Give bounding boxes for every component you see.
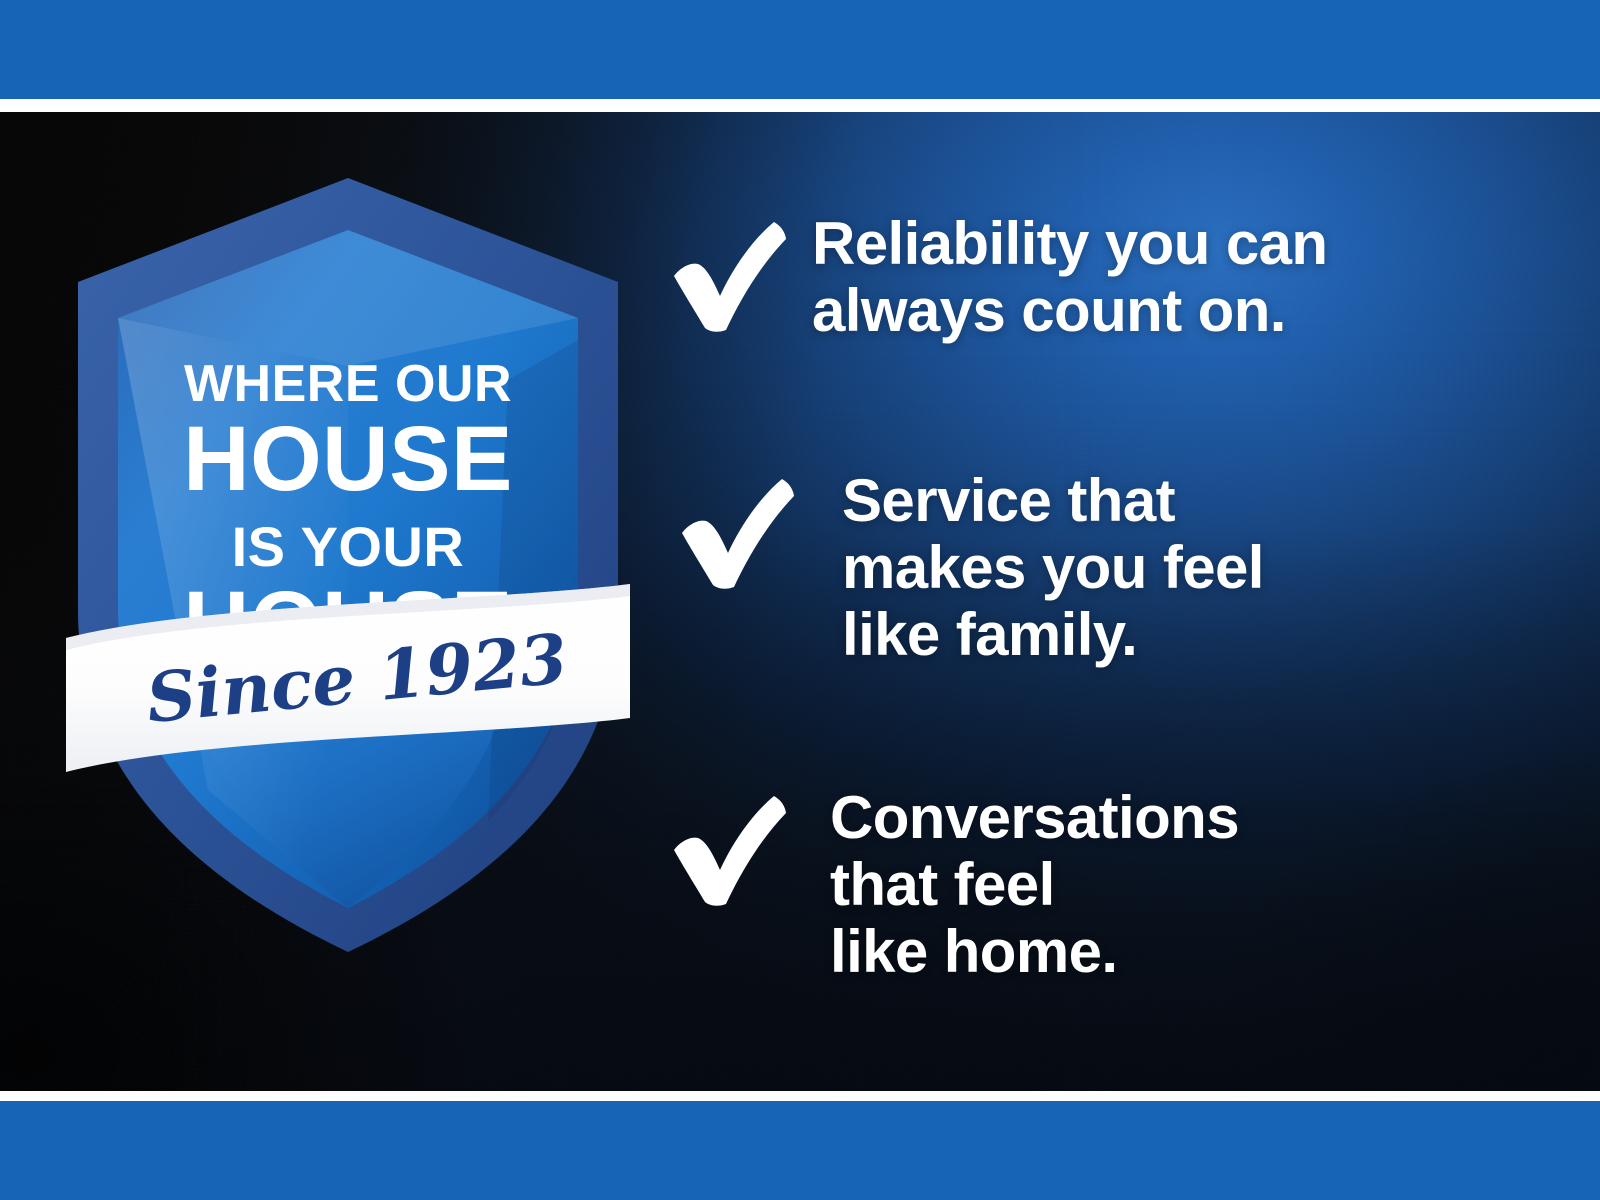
emblem-line-1: WHERE OUR — [184, 355, 512, 413]
list-item-text: Service that makes you feel like family. — [842, 467, 1264, 669]
list-item: Reliability you can always count on. — [668, 210, 1327, 344]
list-item: Service that makes you feel like family. — [676, 467, 1264, 669]
benefits-list: Reliability you can always count on. Ser… — [660, 112, 1540, 1091]
emblem-line-3: IS YOUR — [232, 515, 465, 578]
list-item-text: Conversations that feel like home. — [830, 784, 1239, 986]
checkmark-icon — [676, 475, 798, 593]
checkmark-icon — [668, 792, 790, 910]
shield-emblem: WHERE OUR HOUSE IS YOUR HOUSE Since 1923 — [58, 170, 638, 960]
bottom-brand-bar — [0, 1101, 1600, 1200]
list-item-text: Reliability you can always count on. — [812, 210, 1327, 344]
checkmark-icon — [668, 218, 790, 336]
emblem-line-2: HOUSE — [183, 408, 513, 510]
list-item: Conversations that feel like home. — [668, 784, 1239, 986]
promo-poster: WHERE OUR HOUSE IS YOUR HOUSE Since 1923… — [0, 0, 1600, 1200]
top-brand-bar — [0, 0, 1600, 99]
